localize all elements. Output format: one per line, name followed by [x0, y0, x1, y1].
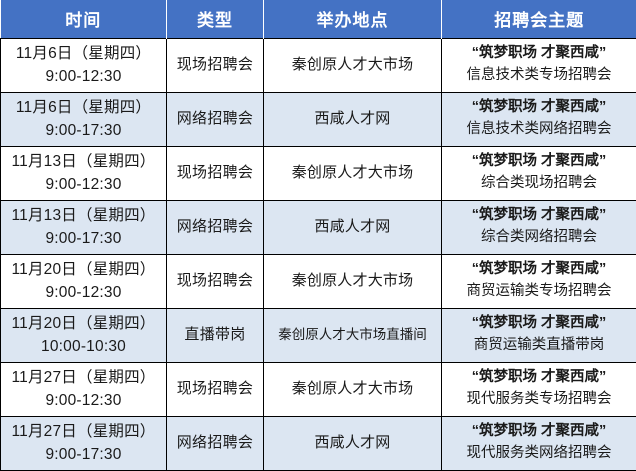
table-row: 11月6日（星期四）9:00-17:30网络招聘会西咸人才网“筑梦职场 才聚西咸… — [1, 92, 636, 146]
header-row: 时间 类型 举办地点 招聘会主题 — [1, 0, 636, 38]
cell-venue: 秦创原人才大市场 — [264, 254, 442, 308]
cell-type: 现场招聘会 — [167, 146, 264, 200]
table-row: 11月27日（星期四）9:00-17:30网络招聘会西咸人才网“筑梦职场 才聚西… — [1, 416, 636, 470]
cell-time: 11月6日（星期四）9:00-12:30 — [1, 38, 167, 92]
table-row: 11月27日（星期四）9:00-12:30现场招聘会秦创原人才大市场“筑梦职场 … — [1, 362, 636, 416]
cell-type: 直播带岗 — [167, 308, 264, 362]
theme-slogan: “筑梦职场 才聚西咸” — [444, 43, 634, 65]
cell-type: 现场招聘会 — [167, 254, 264, 308]
theme-slogan: “筑梦职场 才聚西咸” — [444, 367, 634, 389]
theme-slogan: “筑梦职场 才聚西咸” — [444, 313, 634, 335]
table-row: 11月20日（星期四）10:00-10:30直播带岗秦创原人才大市场直播间“筑梦… — [1, 308, 636, 362]
cell-venue: 西咸人才网 — [264, 416, 442, 470]
theme-detail: 信息技术类专场招聘会 — [444, 65, 634, 87]
theme-slogan: “筑梦职场 才聚西咸” — [444, 421, 634, 443]
cell-theme: “筑梦职场 才聚西咸”现代服务类专场招聘会 — [442, 362, 636, 416]
cell-type: 网络招聘会 — [167, 92, 264, 146]
event-hours: 10:00-10:30 — [3, 335, 164, 358]
event-hours: 9:00-12:30 — [3, 281, 164, 304]
theme-detail: 现代服务类专场招聘会 — [444, 389, 634, 411]
event-date: 11月20日（星期四） — [3, 312, 164, 335]
recruitment-schedule-table: 时间 类型 举办地点 招聘会主题 11月6日（星期四）9:00-12:30现场招… — [0, 0, 636, 471]
cell-time: 11月6日（星期四）9:00-17:30 — [1, 92, 167, 146]
cell-type: 网络招聘会 — [167, 416, 264, 470]
cell-type: 现场招聘会 — [167, 38, 264, 92]
table-body: 11月6日（星期四）9:00-12:30现场招聘会秦创原人才大市场“筑梦职场 才… — [1, 38, 636, 470]
cell-theme: “筑梦职场 才聚西咸”商贸运输类专场招聘会 — [442, 254, 636, 308]
column-header-time: 时间 — [1, 0, 167, 38]
theme-slogan: “筑梦职场 才聚西咸” — [444, 205, 634, 227]
cell-time: 11月27日（星期四）9:00-12:30 — [1, 362, 167, 416]
theme-detail: 商贸运输类专场招聘会 — [444, 281, 634, 303]
cell-theme: “筑梦职场 才聚西咸”信息技术类专场招聘会 — [442, 38, 636, 92]
theme-detail: 商贸运输类直播带岗 — [444, 335, 634, 357]
theme-slogan: “筑梦职场 才聚西咸” — [444, 97, 634, 119]
table-row: 11月6日（星期四）9:00-12:30现场招聘会秦创原人才大市场“筑梦职场 才… — [1, 38, 636, 92]
cell-type: 网络招聘会 — [167, 200, 264, 254]
event-hours: 9:00-12:30 — [3, 389, 164, 412]
theme-detail: 现代服务类网络招聘会 — [444, 443, 634, 465]
event-hours: 9:00-12:30 — [3, 65, 164, 88]
event-hours: 9:00-12:30 — [3, 173, 164, 196]
event-date: 11月13日（星期四） — [3, 150, 164, 173]
event-date: 11月6日（星期四） — [3, 96, 164, 119]
column-header-venue: 举办地点 — [264, 0, 442, 38]
cell-time: 11月20日（星期四）10:00-10:30 — [1, 308, 167, 362]
cell-time: 11月13日（星期四）9:00-17:30 — [1, 200, 167, 254]
event-date: 11月6日（星期四） — [3, 42, 164, 65]
theme-slogan: “筑梦职场 才聚西咸” — [444, 259, 634, 281]
theme-detail: 综合类网络招聘会 — [444, 227, 634, 249]
cell-type: 现场招聘会 — [167, 362, 264, 416]
cell-time: 11月27日（星期四）9:00-17:30 — [1, 416, 167, 470]
table-header: 时间 类型 举办地点 招聘会主题 — [1, 0, 636, 38]
column-header-theme: 招聘会主题 — [442, 0, 636, 38]
cell-venue: 西咸人才网 — [264, 92, 442, 146]
event-date: 11月27日（星期四） — [3, 366, 164, 389]
table-row: 11月13日（星期四）9:00-12:30现场招聘会秦创原人才大市场“筑梦职场 … — [1, 146, 636, 200]
cell-venue: 秦创原人才大市场 — [264, 38, 442, 92]
cell-theme: “筑梦职场 才聚西咸”综合类现场招聘会 — [442, 146, 636, 200]
cell-theme: “筑梦职场 才聚西咸”商贸运输类直播带岗 — [442, 308, 636, 362]
cell-venue: 西咸人才网 — [264, 200, 442, 254]
cell-theme: “筑梦职场 才聚西咸”现代服务类网络招聘会 — [442, 416, 636, 470]
theme-detail: 综合类现场招聘会 — [444, 173, 634, 195]
table-row: 11月20日（星期四）9:00-12:30现场招聘会秦创原人才大市场“筑梦职场 … — [1, 254, 636, 308]
cell-venue: 秦创原人才大市场 — [264, 362, 442, 416]
event-hours: 9:00-17:30 — [3, 119, 164, 142]
cell-time: 11月13日（星期四）9:00-12:30 — [1, 146, 167, 200]
event-date: 11月27日（星期四） — [3, 420, 164, 443]
event-date: 11月20日（星期四） — [3, 258, 164, 281]
table-row: 11月13日（星期四）9:00-17:30网络招聘会西咸人才网“筑梦职场 才聚西… — [1, 200, 636, 254]
column-header-type: 类型 — [167, 0, 264, 38]
theme-slogan: “筑梦职场 才聚西咸” — [444, 151, 634, 173]
cell-venue: 秦创原人才大市场 — [264, 146, 442, 200]
cell-theme: “筑梦职场 才聚西咸”信息技术类网络招聘会 — [442, 92, 636, 146]
event-hours: 9:00-17:30 — [3, 227, 164, 250]
cell-venue: 秦创原人才大市场直播间 — [264, 308, 442, 362]
cell-time: 11月20日（星期四）9:00-12:30 — [1, 254, 167, 308]
cell-theme: “筑梦职场 才聚西咸”综合类网络招聘会 — [442, 200, 636, 254]
theme-detail: 信息技术类网络招聘会 — [444, 119, 634, 141]
event-date: 11月13日（星期四） — [3, 204, 164, 227]
